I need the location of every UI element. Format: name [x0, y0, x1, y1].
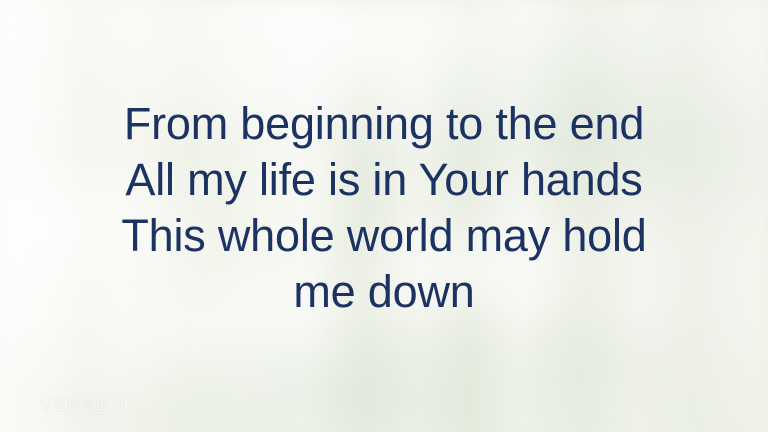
lyrics-block: From beginning to the end All my life is… [0, 96, 768, 320]
section-label: VERSE 1 [40, 395, 129, 415]
lyric-line-4: me down [0, 264, 768, 320]
lyric-line-1: From beginning to the end [0, 96, 768, 152]
lyric-line-2: All my life is in Your hands [0, 152, 768, 208]
lyric-slide: From beginning to the end All my life is… [0, 0, 768, 432]
lyric-line-3: This whole world may hold [0, 208, 768, 264]
